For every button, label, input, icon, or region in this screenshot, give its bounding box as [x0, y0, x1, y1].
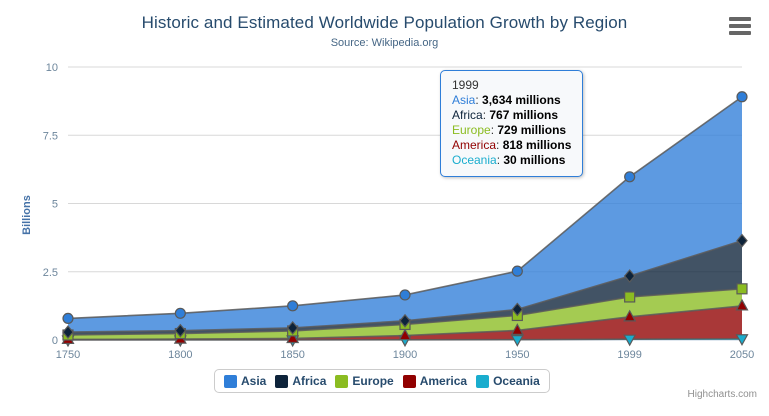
x-axis-tick-label: 1850	[280, 349, 304, 361]
marker-asia[interactable]	[737, 92, 747, 102]
y-axis-tick-label: 7.5	[43, 130, 58, 142]
tooltip-row: Oceania: 30 millions	[452, 153, 571, 168]
y-axis-tick-label: 10	[46, 62, 58, 74]
legend-item-label: Europe	[352, 374, 393, 388]
tooltip-row: Europe: 729 millions	[452, 123, 571, 138]
tooltip-series-name: Africa	[452, 108, 483, 122]
marker-europe[interactable]	[737, 284, 747, 294]
x-axis-tick-label: 1900	[393, 349, 417, 361]
x-axis-tick-label: 1999	[617, 349, 641, 361]
tooltip-series-value: 818 millions	[503, 138, 572, 152]
tooltip-row: America: 818 millions	[452, 138, 571, 153]
marker-asia[interactable]	[175, 308, 185, 318]
tooltip-series-value: 30 millions	[503, 153, 565, 167]
tooltip-header: 1999	[452, 78, 571, 92]
legend-swatch-icon	[335, 375, 348, 388]
y-axis-tick-label: 0	[52, 335, 58, 347]
legend-swatch-icon	[275, 375, 288, 388]
legend-item-label: Asia	[241, 374, 266, 388]
tooltip-series-value: 729 millions	[497, 123, 566, 137]
marker-asia[interactable]	[288, 301, 298, 311]
legend-swatch-icon	[224, 375, 237, 388]
tooltip-separator: :	[496, 138, 503, 152]
tooltip-series-name: Asia	[452, 93, 475, 107]
x-axis-tick-label: 1800	[168, 349, 192, 361]
tooltip-series-name: Oceania	[452, 153, 497, 167]
legend-item-label: Oceania	[493, 374, 540, 388]
tooltip-series-value: 767 millions	[489, 108, 558, 122]
chart-legend: AsiaAfricaEuropeAmericaOceania	[214, 369, 550, 393]
tooltip-series-name: Europe	[452, 123, 491, 137]
legend-item-label: America	[420, 374, 467, 388]
legend-item-asia[interactable]: Asia	[224, 374, 266, 388]
x-axis-tick-label: 1950	[505, 349, 529, 361]
legend-swatch-icon	[403, 375, 416, 388]
legend-items: AsiaAfricaEuropeAmericaOceania	[224, 374, 540, 388]
marker-europe[interactable]	[625, 292, 635, 302]
legend-item-oceania[interactable]: Oceania	[476, 374, 540, 388]
tooltip-series-value: 3,634 millions	[482, 93, 561, 107]
tooltip-row: Asia: 3,634 millions	[452, 93, 571, 108]
x-axis-tick-label: 2050	[730, 349, 754, 361]
chart-plot-area: 02.557.510 1750180018501900195019992050 …	[0, 0, 769, 416]
marker-asia[interactable]	[512, 266, 522, 276]
y-axis-title: Billions	[21, 195, 33, 235]
legend-item-europe[interactable]: Europe	[335, 374, 393, 388]
tooltip: 1999 Asia: 3,634 millionsAfrica: 767 mil…	[440, 70, 583, 177]
credits-label: Highcharts.com	[688, 389, 757, 400]
tooltip-rows: Asia: 3,634 millionsAfrica: 767 millions…	[452, 93, 571, 168]
marker-asia[interactable]	[400, 290, 410, 300]
legend-item-america[interactable]: America	[403, 374, 467, 388]
y-axis-tick-label: 5	[52, 199, 58, 211]
series-areas	[68, 97, 742, 340]
marker-asia[interactable]	[63, 313, 73, 323]
legend-item-label: Africa	[292, 374, 326, 388]
marker-oceania[interactable]	[512, 336, 523, 346]
y-axis-tick-label: 2.5	[43, 267, 58, 279]
tooltip-series-name: America	[452, 138, 496, 152]
highcharts-container: Historic and Estimated Worldwide Populat…	[0, 0, 769, 416]
x-axis-labels: 1750180018501900195019992050	[56, 349, 754, 361]
legend-swatch-icon	[476, 375, 489, 388]
y-axis-labels: 02.557.510	[43, 62, 58, 347]
x-axis-tick-label: 1750	[56, 349, 80, 361]
tooltip-separator: :	[475, 93, 482, 107]
marker-asia[interactable]	[625, 172, 635, 182]
legend-item-africa[interactable]: Africa	[275, 374, 326, 388]
tooltip-row: Africa: 767 millions	[452, 108, 571, 123]
